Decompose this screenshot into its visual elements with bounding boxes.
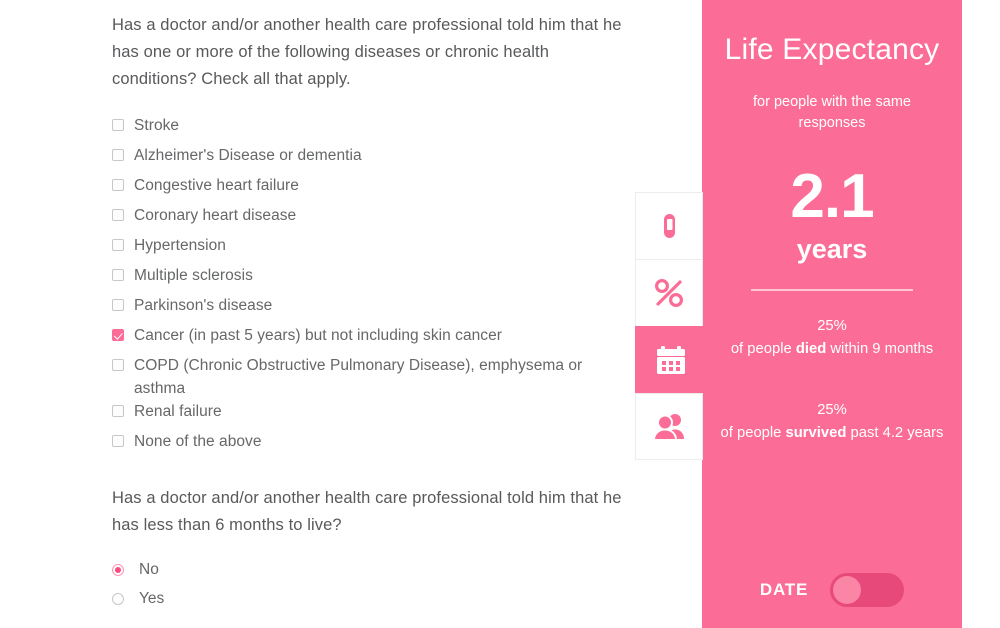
checkbox-label: Parkinson's disease [134,294,272,317]
checkbox-label: Multiple sclerosis [134,264,253,287]
tab-date[interactable] [635,326,707,393]
date-toggle-switch[interactable] [830,573,904,607]
people-icon [653,413,685,441]
radio-row[interactable]: No [112,555,632,584]
metric-tab-strip [635,192,703,460]
checkbox-row[interactable]: Stroke [112,114,632,144]
checkbox-unchecked[interactable] [112,179,124,191]
pill-icon [654,211,684,241]
stat-description: of people survived past 4.2 years [716,422,948,445]
tab-medication[interactable] [635,192,703,259]
radio-row[interactable]: Yes [112,584,632,613]
checkbox-label: None of the above [134,430,262,453]
checkbox-unchecked[interactable] [112,119,124,131]
checkbox-row[interactable]: Hypertension [112,234,632,264]
checkbox-label: Stroke [134,114,179,137]
checkbox-checked[interactable] [112,329,124,341]
checkbox-row[interactable]: Multiple sclerosis [112,264,632,294]
date-toggle-knob [833,576,861,604]
checkbox-row[interactable]: Renal failure [112,400,632,430]
stat-prefix: of people [731,341,796,357]
checkbox-label: Hypertension [134,234,226,257]
stat-emphasis: died [796,341,826,357]
checkbox-label: Renal failure [134,400,222,423]
tab-people[interactable] [635,393,703,460]
checkbox-row[interactable]: Cancer (in past 5 years) but not includi… [112,324,632,354]
disease-checkbox-group: StrokeAlzheimer's Disease or dementiaCon… [112,114,632,460]
stat-block: 25%of people survived past 4.2 years [716,399,948,445]
checkbox-unchecked[interactable] [112,239,124,251]
checkbox-label: Alzheimer's Disease or dementia [134,144,362,167]
life-expectancy-unit: years [702,234,962,264]
stat-block: 25%of people died within 9 months [716,315,948,361]
six-months-radio-group: NoYes [112,555,632,613]
checkbox-row[interactable]: Coronary heart disease [112,204,632,234]
checkbox-unchecked[interactable] [112,359,124,371]
question-two-text: Has a doctor and/or another health care … [112,485,632,539]
radio-selected[interactable] [112,564,124,576]
survival-stats: 25%of people died within 9 months25%of p… [702,315,962,445]
stat-percent: 25% [716,399,948,422]
radio-label: No [139,560,159,580]
percent-icon [653,277,685,309]
checkbox-row[interactable]: None of the above [112,430,632,460]
stat-percent: 25% [716,315,948,338]
question-one-text: Has a doctor and/or another health care … [112,12,632,93]
checkbox-row[interactable]: Congestive heart failure [112,174,632,204]
questionnaire-form: Has a doctor and/or another health care … [112,12,632,613]
panel-title: Life Expectancy [702,0,962,70]
tab-percent[interactable] [635,259,703,326]
life-expectancy-panel: Life Expectancy for people with the same… [702,0,962,628]
panel-divider [751,289,913,291]
checkbox-unchecked[interactable] [112,269,124,281]
checkbox-unchecked[interactable] [112,405,124,417]
checkbox-label: Cancer (in past 5 years) but not includi… [134,324,502,347]
checkbox-unchecked[interactable] [112,299,124,311]
checkbox-unchecked[interactable] [112,209,124,221]
checkbox-label: COPD (Chronic Obstructive Pulmonary Dise… [134,354,632,400]
date-toggle-label: DATE [760,580,808,600]
checkbox-unchecked[interactable] [112,435,124,447]
stat-description: of people died within 9 months [716,338,948,361]
checkbox-row[interactable]: COPD (Chronic Obstructive Pulmonary Dise… [112,354,632,400]
stat-prefix: of people [721,425,786,441]
panel-subtitle: for people with the same responses [718,92,946,134]
stat-suffix: within 9 months [826,341,933,357]
radio-label: Yes [139,589,164,609]
checkbox-label: Coronary heart disease [134,204,296,227]
date-toggle-row: DATE [702,573,962,607]
life-expectancy-value: 2.1 [702,166,962,228]
checkbox-row[interactable]: Alzheimer's Disease or dementia [112,144,632,174]
checkbox-label: Congestive heart failure [134,174,299,197]
radio-unselected[interactable] [112,593,124,605]
stat-suffix: past 4.2 years [846,425,943,441]
checkbox-row[interactable]: Parkinson's disease [112,294,632,324]
stat-emphasis: survived [786,425,847,441]
calendar-icon [655,345,687,376]
checkbox-unchecked[interactable] [112,149,124,161]
